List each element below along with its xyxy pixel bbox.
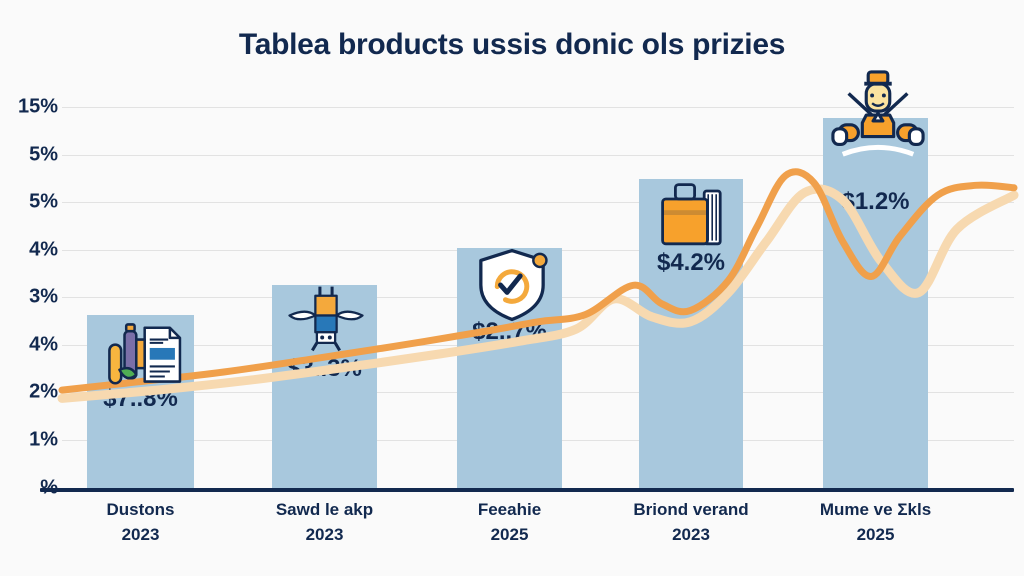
x-axis-category-year: 2023 <box>227 523 422 548</box>
bar-3[interactable] <box>457 248 562 492</box>
bar-5[interactable] <box>823 118 928 492</box>
bar-value-label: $7..8% <box>73 385 208 413</box>
x-axis-tick-5: Mume ve Ʃkls2025 <box>778 498 973 547</box>
bar-4[interactable] <box>639 179 743 492</box>
x-axis-tick-3: Feeahie2025 <box>412 498 607 547</box>
x-axis-category-name: Briond verand <box>633 500 748 519</box>
bar-value-label: $2..7% <box>443 318 576 346</box>
bar-2[interactable] <box>272 285 377 492</box>
bar-series: $7..8%$3..3%$2..7%$4.2%$1.2% <box>0 0 1024 492</box>
x-axis-tick-1: Dustons2023 <box>42 498 239 547</box>
x-axis-tick-4: Briond verand2023 <box>594 498 788 547</box>
x-axis-category-name: Feeahie <box>478 500 541 519</box>
chart-canvas: Tablea broducts ussis donic ols prizies … <box>0 0 1024 576</box>
x-axis: Dustons2023Sawd le akp2023Feeahie2025Bri… <box>0 498 1024 568</box>
x-axis-tick-2: Sawd le akp2023 <box>227 498 422 547</box>
x-axis-category-year: 2023 <box>594 523 788 548</box>
x-axis-category-name: Mume ve Ʃkls <box>820 500 931 519</box>
bar-value-label: $4.2% <box>625 249 757 277</box>
x-axis-category-year: 2023 <box>42 523 239 548</box>
x-axis-baseline <box>40 488 1014 492</box>
x-axis-category-name: Dustons <box>107 500 175 519</box>
x-axis-category-year: 2025 <box>778 523 973 548</box>
bar-value-label: $3..3% <box>258 355 391 383</box>
x-axis-category-year: 2025 <box>412 523 607 548</box>
x-axis-category-name: Sawd le akp <box>276 500 373 519</box>
bar-value-label: $1.2% <box>809 188 942 216</box>
